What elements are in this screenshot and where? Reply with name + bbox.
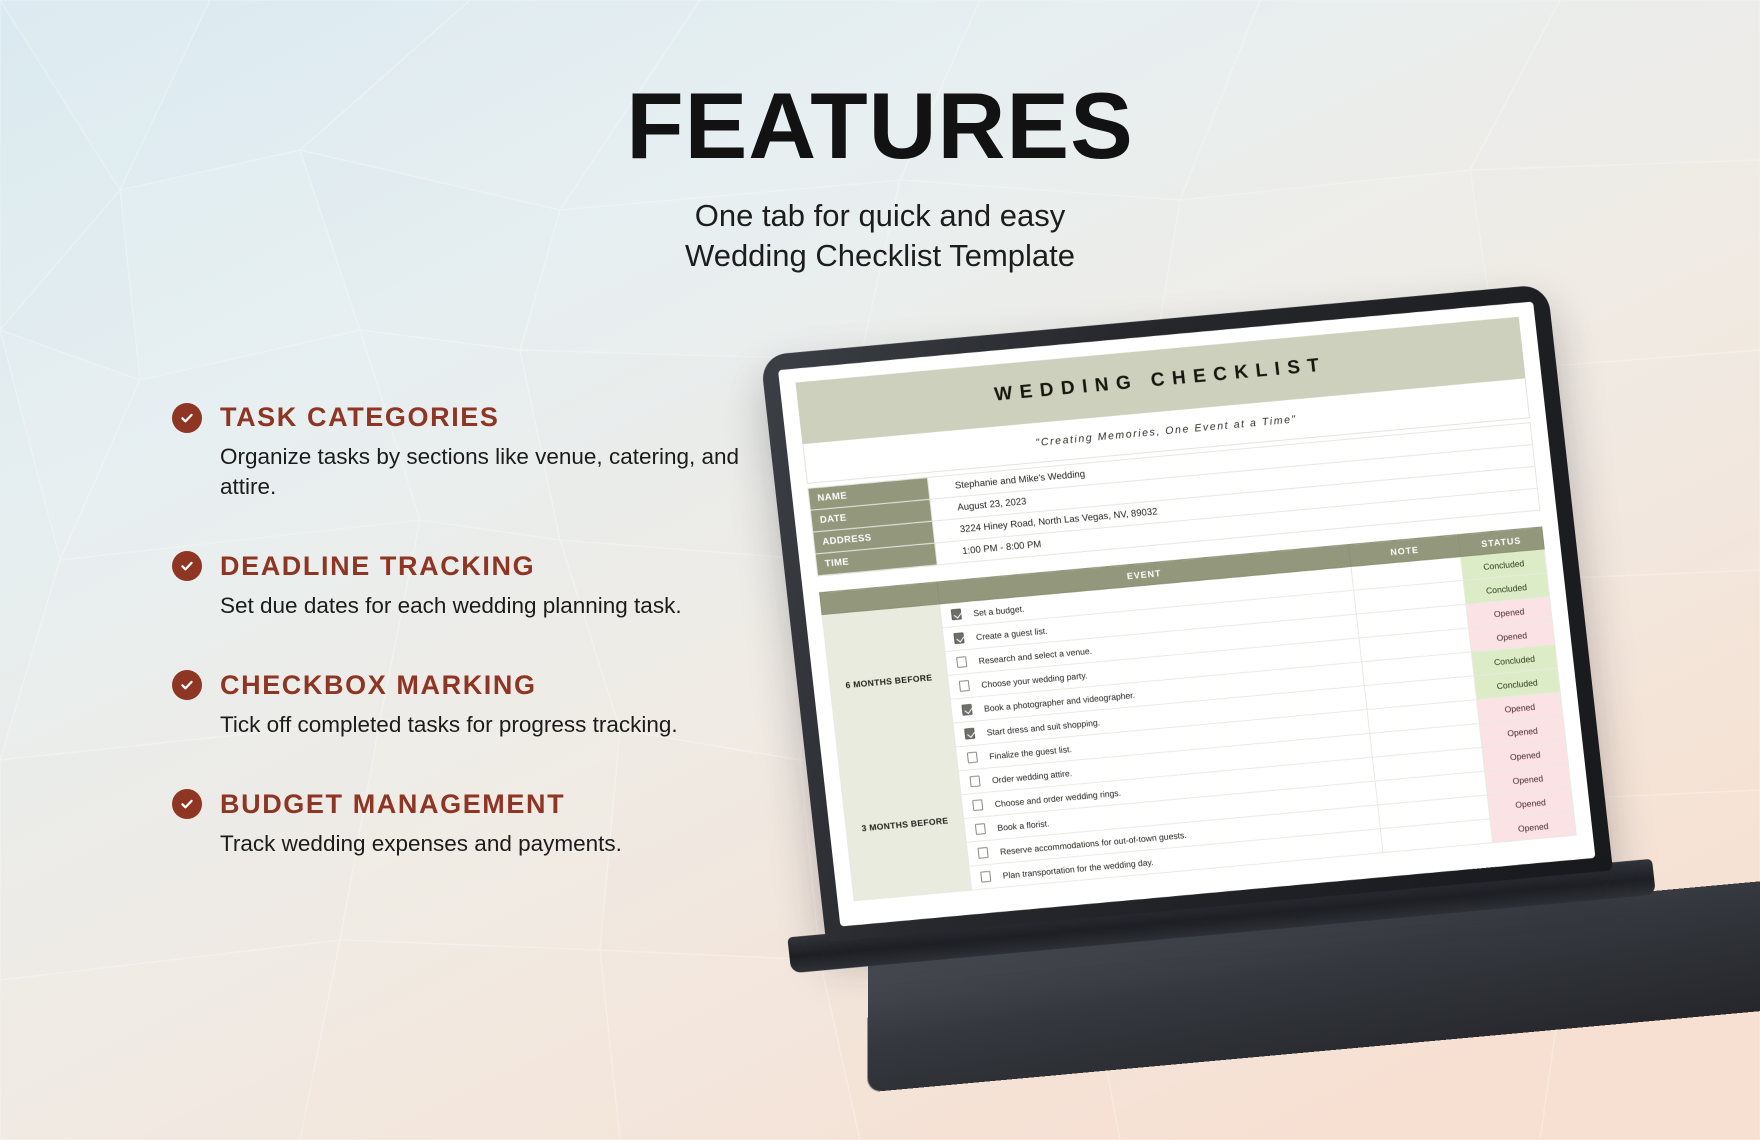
event-label: Research and select a venue. [978, 645, 1092, 665]
checkbox-unchecked-icon[interactable] [956, 656, 967, 668]
check-circle-icon [172, 789, 202, 819]
wedding-checklist-spreadsheet: WEDDING CHECKLIST "Creating Memories, On… [778, 301, 1595, 926]
check-circle-icon [172, 670, 202, 700]
feature-item-budget-management: BUDGET MANAGEMENT Track wedding expenses… [172, 789, 782, 859]
feature-item-task-categories: TASK CATEGORIES Organize tasks by sectio… [172, 402, 782, 502]
feature-description: Track wedding expenses and payments. [220, 829, 780, 859]
feature-title: BUDGET MANAGEMENT [220, 789, 565, 820]
event-label: Choose your wedding party. [981, 670, 1088, 690]
feature-heading: BUDGET MANAGEMENT [172, 789, 782, 820]
group-label-cell: 3 MONTHS BEFORE [838, 747, 972, 901]
checkbox-unchecked-icon[interactable] [972, 799, 983, 811]
feature-heading: CHECKBOX MARKING [172, 670, 782, 701]
laptop-screen: WEDDING CHECKLIST "Creating Memories, On… [778, 301, 1595, 926]
checkbox-unchecked-icon[interactable] [980, 871, 991, 883]
check-circle-icon [172, 551, 202, 581]
event-label: Book a florist. [997, 818, 1050, 833]
checkbox-unchecked-icon[interactable] [975, 823, 986, 835]
feature-description: Tick off completed tasks for progress tr… [220, 710, 780, 740]
feature-description: Organize tasks by sections like venue, c… [220, 442, 780, 502]
event-label: Start dress and suit shopping. [986, 717, 1100, 737]
checkbox-unchecked-icon[interactable] [969, 775, 980, 787]
laptop-mockup: WEDDING CHECKLIST "Creating Memories, On… [658, 218, 1721, 1122]
feature-title: DEADLINE TRACKING [220, 551, 535, 582]
feature-heading: DEADLINE TRACKING [172, 551, 782, 582]
checkbox-checked-icon[interactable] [961, 704, 972, 716]
check-circle-icon [172, 403, 202, 433]
checkbox-unchecked-icon[interactable] [959, 680, 970, 692]
event-label: Plan transportation for the wedding day. [1002, 857, 1154, 881]
feature-item-checkbox-marking: CHECKBOX MARKING Tick off completed task… [172, 670, 782, 740]
checkbox-checked-icon[interactable] [951, 608, 962, 620]
checkbox-checked-icon[interactable] [964, 728, 975, 740]
checkbox-checked-icon[interactable] [953, 632, 964, 644]
checkbox-unchecked-icon[interactable] [967, 752, 978, 764]
checklist-table: EVENT NOTE STATUS 6 MONTHS BEFORESet a b… [819, 526, 1577, 901]
group-label-cell: 6 MONTHS BEFORE [822, 604, 956, 758]
event-label: Set a budget. [973, 603, 1025, 618]
feature-list: TASK CATEGORIES Organize tasks by sectio… [172, 402, 782, 859]
feature-item-deadline-tracking: DEADLINE TRACKING Set due dates for each… [172, 551, 782, 621]
page-subtitle: One tab for quick and easy Wedding Check… [0, 196, 1760, 275]
event-label: Order wedding attire. [991, 768, 1072, 785]
page-subtitle-line-2: Wedding Checklist Template [685, 238, 1075, 273]
feature-title: TASK CATEGORIES [220, 402, 500, 433]
feature-title: CHECKBOX MARKING [220, 670, 537, 701]
sheet-title: WEDDING CHECKLIST [993, 354, 1327, 406]
feature-heading: TASK CATEGORIES [172, 402, 782, 433]
event-label: Finalize the guest list. [989, 744, 1072, 761]
hero-header: FEATURES One tab for quick and easy Wedd… [0, 78, 1760, 275]
laptop-lid: WEDDING CHECKLIST "Creating Memories, On… [760, 284, 1613, 942]
checkbox-unchecked-icon[interactable] [978, 847, 989, 859]
feature-description: Set due dates for each wedding planning … [220, 591, 780, 621]
page-title: FEATURES [0, 78, 1760, 174]
page-subtitle-line-1: One tab for quick and easy [695, 198, 1066, 233]
event-label: Create a guest list. [975, 625, 1047, 641]
